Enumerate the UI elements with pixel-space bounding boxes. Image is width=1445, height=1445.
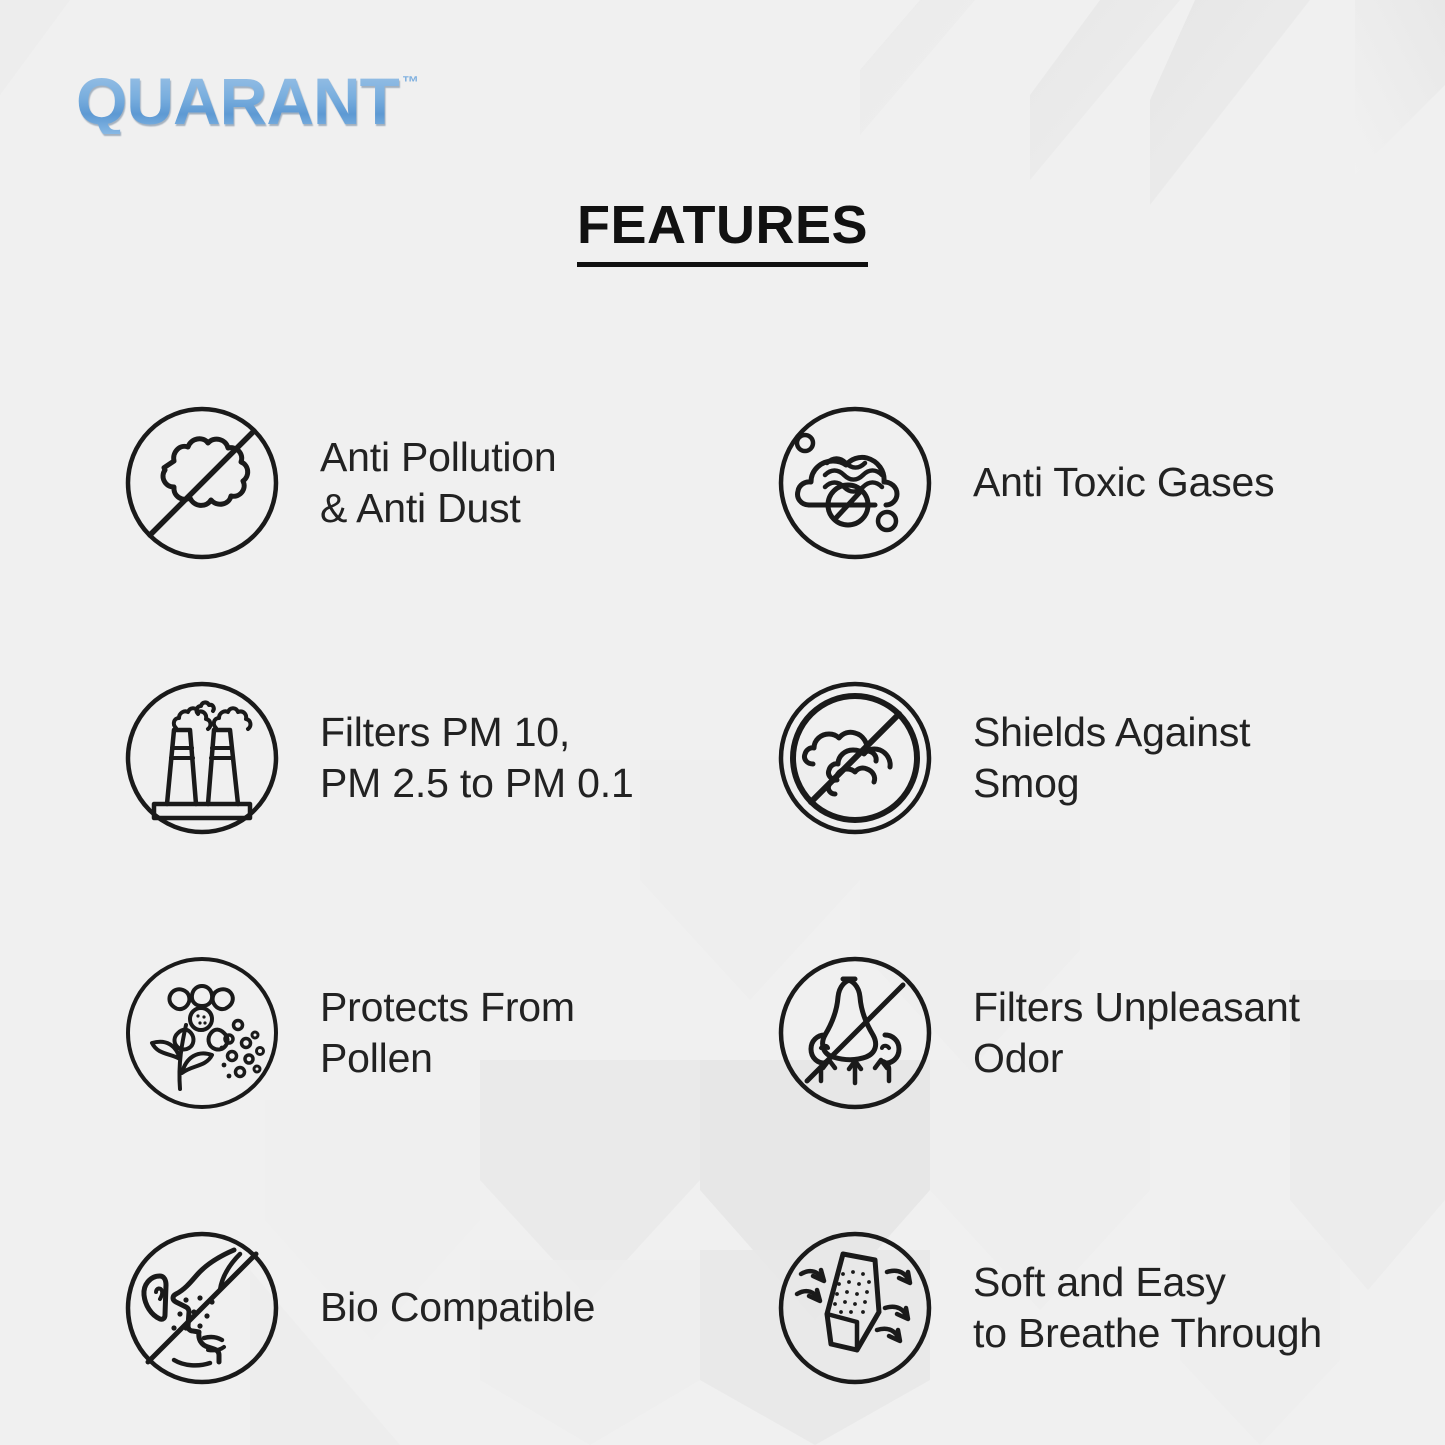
factory-smokestack-icon: [112, 668, 292, 848]
feature-label: Shields Against Smog: [973, 707, 1250, 807]
feature-infographic-page: QUARANT ™ FEATURES Anti Pollution & Anti…: [0, 0, 1445, 1445]
feature-item-filters-pm: Filters PM 10, PM 2.5 to PM 0.1: [112, 620, 723, 895]
feature-item-anti-toxic-gases: Anti Toxic Gases: [741, 345, 1352, 620]
no-smog-icon: [765, 668, 945, 848]
no-nose-odor-icon: [765, 943, 945, 1123]
flower-pollen-icon: [112, 943, 292, 1123]
brand-logo: QUARANT ™: [76, 68, 419, 134]
feature-item-filters-odor: Filters Unpleasant Odor: [741, 895, 1352, 1170]
feature-item-shields-smog: Shields Against Smog: [741, 620, 1352, 895]
page-title: FEATURES: [577, 197, 868, 267]
feature-item-anti-pollution: Anti Pollution & Anti Dust: [112, 345, 723, 620]
page-title-container: FEATURES: [0, 197, 1445, 267]
feature-label: Filters PM 10, PM 2.5 to PM 0.1: [320, 707, 634, 807]
features-grid: Anti Pollution & Anti Dust: [112, 345, 1352, 1445]
feature-item-protects-pollen: Protects From Pollen: [112, 895, 723, 1170]
feature-label: Bio Compatible: [320, 1282, 595, 1332]
feature-label: Protects From Pollen: [320, 982, 575, 1082]
no-skin-irritation-face-icon: [112, 1218, 292, 1398]
feature-label: Anti Pollution & Anti Dust: [320, 432, 557, 532]
feature-item-soft-breathable: Soft and Easy to Breathe Through: [741, 1170, 1352, 1445]
feature-label: Anti Toxic Gases: [973, 457, 1274, 507]
toxic-gas-cloud-icon: [765, 393, 945, 573]
trademark-symbol: ™: [402, 74, 419, 91]
no-dust-cloud-icon: [112, 393, 292, 573]
brand-logo-text: QUARANT: [76, 68, 399, 134]
breathable-fabric-airflow-icon: [765, 1218, 945, 1398]
feature-item-bio-compatible: Bio Compatible: [112, 1170, 723, 1445]
feature-label: Soft and Easy to Breathe Through: [973, 1257, 1322, 1357]
feature-label: Filters Unpleasant Odor: [973, 982, 1300, 1082]
